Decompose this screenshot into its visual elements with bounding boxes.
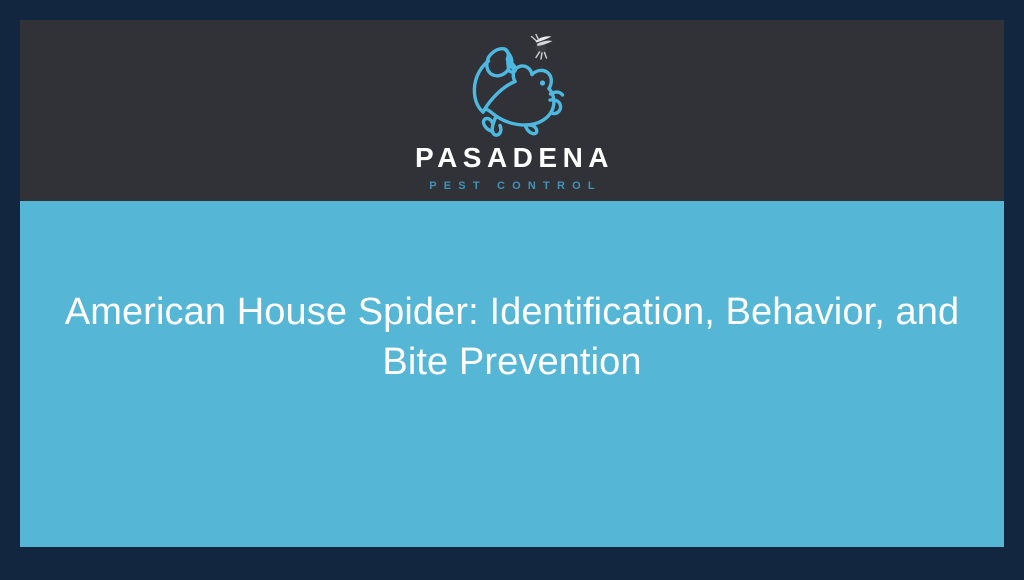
slide-page: PASADENA PEST CONTROL American House Spi… — [0, 0, 1024, 580]
page-title: American House Spider: Identification, B… — [32, 287, 992, 387]
mouse-with-net-and-fly-icon — [447, 28, 577, 146]
pest-net-icon — [487, 49, 516, 76]
brand-lockup[interactable]: PASADENA PEST CONTROL — [397, 28, 627, 192]
brand-tagline: PEST CONTROL — [422, 181, 602, 192]
content-card: PASADENA PEST CONTROL American House Spi… — [20, 20, 1004, 547]
fly-icon — [532, 35, 553, 60]
brand-name: PASADENA — [410, 144, 614, 172]
hero-section: American House Spider: Identification, B… — [20, 201, 1004, 547]
header-bar: PASADENA PEST CONTROL — [20, 20, 1004, 201]
